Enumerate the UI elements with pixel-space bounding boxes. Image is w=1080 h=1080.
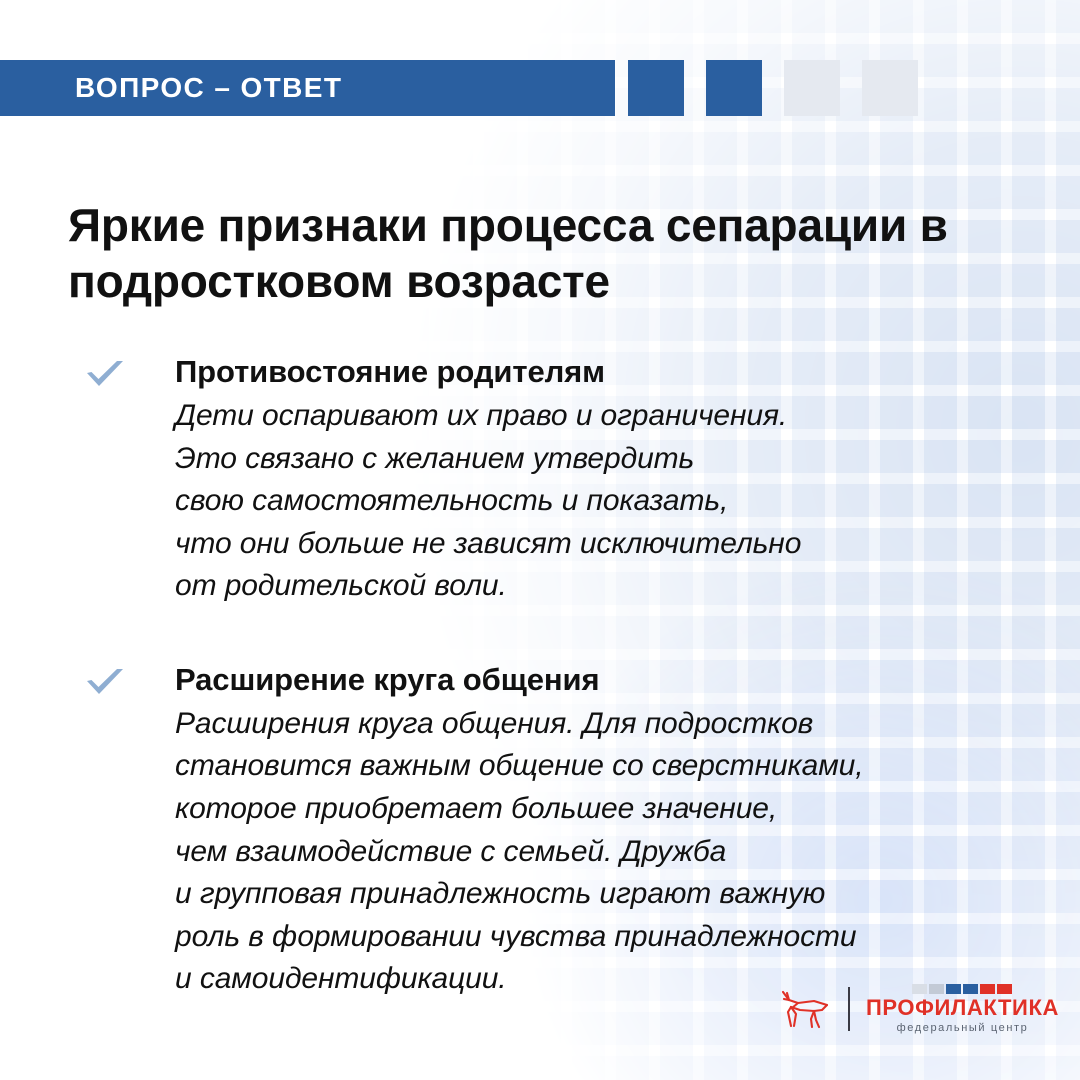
logo-block: ПРОФИЛАКТИКА федеральный центр — [778, 982, 1059, 1036]
bullet-list: Противостояние родителям Дети оспаривают… — [0, 352, 1080, 1053]
header-square-blue-1 — [628, 60, 684, 116]
list-item-body: Расширения круга общения. Для подростков… — [175, 703, 1080, 1001]
logo-text-wrap: ПРОФИЛАКТИКА федеральный центр — [866, 984, 1059, 1034]
logo-divider — [848, 987, 850, 1031]
check-icon — [84, 667, 126, 699]
list-item-heading: Расширение круга общения — [175, 660, 1080, 701]
logo-subtitle: федеральный центр — [897, 1023, 1029, 1034]
header-square-grey-1 — [784, 60, 840, 116]
header-band: ВОПРОС – ОТВЕТ — [0, 60, 615, 116]
logo-square-2 — [929, 984, 944, 994]
header-square-grey-2 — [862, 60, 918, 116]
logo-square-5 — [980, 984, 995, 994]
deer-line-art-icon — [778, 986, 834, 1032]
logo-square-3 — [946, 984, 961, 994]
logo-color-squares — [912, 984, 1012, 994]
logo-square-6 — [997, 984, 1012, 994]
logo-square-1 — [912, 984, 927, 994]
header-square-blue-2 — [706, 60, 762, 116]
list-item-heading: Противостояние родителям — [175, 352, 1080, 393]
check-icon — [84, 359, 126, 391]
page-title: Яркие признаки процесса сепарации в подр… — [68, 197, 1028, 309]
slide-root: ВОПРОС – ОТВЕТ Яркие признаки процесса с… — [0, 0, 1080, 1080]
list-item: Противостояние родителям Дети оспаривают… — [0, 352, 1080, 608]
list-item: Расширение круга общения Расширения круг… — [0, 660, 1080, 1001]
list-item-body: Дети оспаривают их право и ограничения. … — [175, 395, 1080, 608]
header-title: ВОПРОС – ОТВЕТ — [75, 72, 342, 104]
logo-square-4 — [963, 984, 978, 994]
logo-wordmark: ПРОФИЛАКТИКА — [866, 997, 1059, 1019]
